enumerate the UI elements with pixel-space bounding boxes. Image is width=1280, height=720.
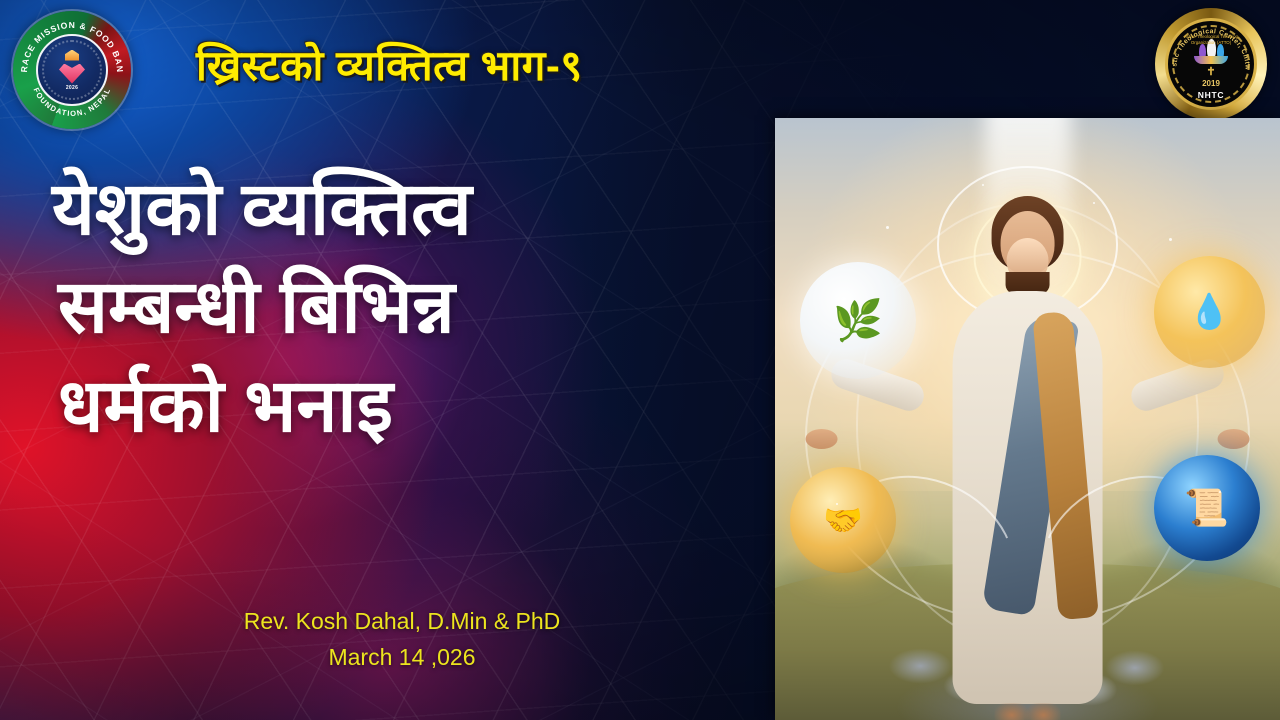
jesus-figure [881, 190, 1174, 720]
badge-core: Nepal Holistic Theological Center, Chitw… [1165, 18, 1257, 110]
nhtc-badge: Nepal Holistic Theological Center, Chitw… [1155, 8, 1267, 120]
presentation-date: March 14 ,026 [52, 640, 752, 676]
logo-inner-circle: 2026 [36, 34, 108, 106]
water-drop-hand-icon: 💧 [1188, 295, 1230, 329]
series-header-title: ख्रिस्टको व्यक्तित्व भाग-९ [196, 36, 583, 93]
badge-arc-text: Nepal Holistic Theological Center, Chitw… [1168, 21, 1251, 71]
scroll-orb: 📜 [1154, 455, 1260, 561]
page-title-line-2: सम्बन्धी बिभिन्न [52, 258, 752, 356]
olive-branch-orb: 🌿 [800, 262, 916, 378]
presenter-block: Rev. Kosh Dahal, D.Min & PhD March 14 ,0… [52, 604, 752, 675]
page-title: येशुको व्यक्तित्व सम्बन्धी बिभिन्न धर्मक… [52, 160, 752, 455]
scroll-icon: 📜 [1184, 490, 1229, 526]
grace-mission-food-bank-logo: GRACE MISSION & FOOD BANK FOUNDATION, NE… [13, 11, 131, 129]
handshake-orb: 🤝 [790, 467, 896, 573]
page-title-line-3: धर्मको भनाइ [52, 357, 752, 455]
page-title-line-1: येशुको व्यक्तित्व [52, 160, 752, 258]
water-drop-hand-orb: 💧 [1154, 256, 1265, 367]
jesus-illustration: 🌿 💧 🤝 📜 [775, 118, 1280, 720]
badge-tagline: Active Theological Teaching Organization… [1180, 34, 1242, 45]
presenter-name: Rev. Kosh Dahal, D.Min & PhD [52, 604, 752, 640]
olive-branch-icon: 🌿 [833, 301, 883, 341]
presentation-slide: GRACE MISSION & FOOD BANK FOUNDATION, NE… [0, 0, 1280, 720]
sparkle [836, 503, 838, 505]
feet [994, 703, 1060, 720]
handshake-icon: 🤝 [823, 504, 863, 536]
